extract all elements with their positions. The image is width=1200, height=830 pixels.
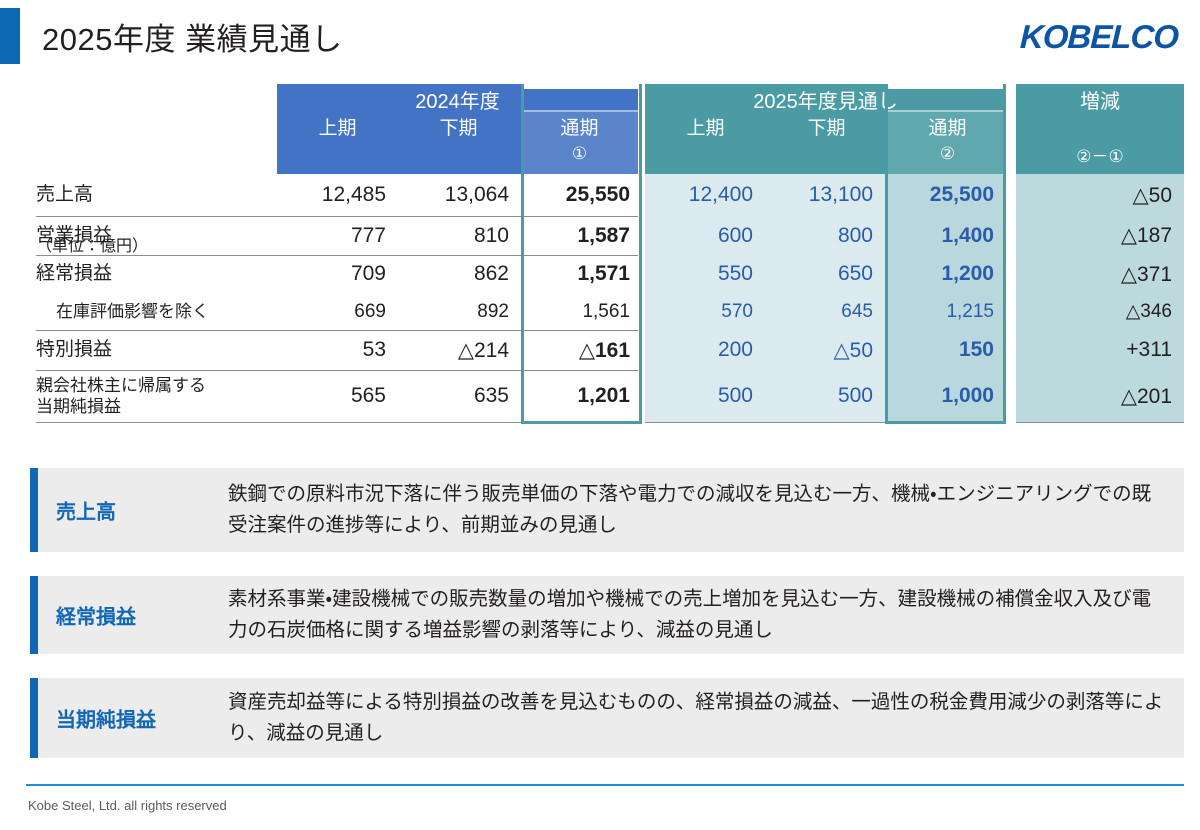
comment-accent-bar — [30, 678, 38, 758]
header-group-fy2025-title: 2025年度見通し — [645, 89, 1006, 115]
row-label: 特別損益 — [36, 330, 112, 370]
comment-box-ordinary-income: 経常損益 素材系事業・建設機械での販売数量の増加や機械での売上増加を見込む一方、… — [30, 576, 1184, 654]
cell-fy2024-h1: 709 — [277, 255, 398, 293]
subheader-fy2025-full: 通期 ② — [887, 116, 1008, 166]
comment-text: 鉄鋼での原料市況下落に伴う販売単価の下落や電力での減収を見込む一方、機械・エンジ… — [228, 479, 1170, 541]
title-accent-bar — [0, 8, 20, 64]
footer-rule — [26, 784, 1184, 786]
header-group-fy2025: 2025年度見通し 上期 下期 通期 ② — [645, 84, 1006, 174]
cell-change: △187 — [1016, 216, 1184, 255]
cell-fy2025-full: 1,400 — [885, 216, 1006, 255]
table-row: 親会社株主に帰属する 当期純損益 565 635 1,201 500 500 1… — [0, 370, 1200, 422]
cell-fy2025-h2: 645 — [765, 293, 885, 330]
gap-strip-fy2025-full — [885, 84, 1006, 89]
cell-change: △371 — [1016, 255, 1184, 293]
header-group-fy2024: 2024年度 上期 下期 通期 ① — [277, 84, 638, 174]
comment-box-sales: 売上高 鉄鋼での原料市況下落に伴う販売単価の下落や電力での減収を見込む一方、機械… — [30, 468, 1184, 552]
cell-fy2024-h1: 669 — [277, 293, 398, 330]
comment-label: 当期純損益 — [56, 704, 156, 733]
row-label: 親会社株主に帰属する 当期純損益 — [36, 370, 206, 422]
subheader-fy2025-h2: 下期 — [766, 116, 887, 166]
cell-fy2024-h2: 862 — [398, 255, 521, 293]
cell-fy2024-full: 25,550 — [521, 174, 642, 216]
subheader-fy2025-full-label: 通期 — [928, 118, 966, 139]
cell-fy2024-full: 1,201 — [521, 370, 642, 422]
cell-fy2025-full: 1,215 — [885, 293, 1006, 330]
subheader-fy2024-full-label: 通期 — [560, 118, 598, 139]
page-title: 2025年度 業績見通し — [42, 14, 343, 59]
table-row: 特別損益 53 △214 △161 200 △50 150 +311 — [0, 330, 1200, 370]
table-row: 売上高 12,485 13,064 25,550 12,400 13,100 2… — [0, 174, 1200, 216]
cell-fy2025-h2: △50 — [765, 330, 885, 370]
cell-fy2025-h1: 600 — [645, 216, 765, 255]
subheader-fy2025-full-marker: ② — [887, 142, 1008, 166]
row-label: 営業損益 — [36, 216, 112, 255]
cell-fy2024-full: 1,561 — [521, 293, 642, 330]
cell-fy2025-h2: 500 — [765, 370, 885, 422]
gap-strip-fy2024-full — [521, 84, 642, 89]
cell-change: △201 — [1016, 370, 1184, 422]
table-body: 売上高 12,485 13,064 25,550 12,400 13,100 2… — [0, 174, 1200, 422]
cell-fy2025-h1: 500 — [645, 370, 765, 422]
results-forecast-table: （単位：億円） 2024年度 上期 下期 通期 ① 2025年度見通し 上期 下… — [0, 84, 1200, 434]
cell-fy2024-h2: 635 — [398, 370, 521, 422]
header-group-change-title: 増減 — [1016, 89, 1184, 115]
subheader-fy2024-full-marker: ① — [519, 142, 640, 166]
cell-fy2024-h1: 53 — [277, 330, 398, 370]
subheader-fy2024-h2: 下期 — [398, 116, 519, 166]
cell-fy2025-h1: 570 — [645, 293, 765, 330]
cell-fy2025-full: 1,200 — [885, 255, 1006, 293]
cell-fy2025-full: 25,500 — [885, 174, 1006, 216]
comment-accent-bar — [30, 468, 38, 552]
header-group-fy2024-subheaders: 上期 下期 通期 ① — [277, 116, 638, 166]
row-label: 経常損益 — [36, 255, 112, 293]
cell-fy2025-h2: 13,100 — [765, 174, 885, 216]
header-group-fy2025-subheaders: 上期 下期 通期 ② — [645, 116, 1006, 166]
comment-label: 経常損益 — [56, 601, 136, 630]
kobelco-logo: KOBELCO — [1019, 18, 1178, 56]
cell-fy2024-full: △161 — [521, 330, 642, 370]
header-group-change: 増減 ②－① — [1016, 84, 1184, 174]
table-row: 経常損益 709 862 1,571 550 650 1,200 △371 — [0, 255, 1200, 293]
cell-fy2024-h2: 13,064 — [398, 174, 521, 216]
cell-change: △346 — [1016, 293, 1184, 330]
header-group-fy2024-title: 2024年度 — [277, 89, 638, 115]
cell-fy2025-full: 150 — [885, 330, 1006, 370]
cell-fy2024-h1: 777 — [277, 216, 398, 255]
cell-change: △50 — [1016, 174, 1184, 216]
comment-label: 売上高 — [56, 496, 116, 525]
cell-fy2025-h1: 200 — [645, 330, 765, 370]
table-row: 営業損益 777 810 1,587 600 800 1,400 △187 — [0, 216, 1200, 255]
cell-fy2024-full: 1,571 — [521, 255, 642, 293]
subheader-change-formula: ②－① — [1016, 142, 1184, 167]
cell-change: +311 — [1016, 330, 1184, 370]
comment-text: 資産売却益等による特別損益の改善を見込むものの、経常損益の減益、一過性の税金費用… — [228, 687, 1170, 749]
cell-fy2024-h2: △214 — [398, 330, 521, 370]
subheader-fy2024-h1: 上期 — [277, 116, 398, 166]
cell-fy2025-h1: 550 — [645, 255, 765, 293]
cell-fy2025-h2: 650 — [765, 255, 885, 293]
comment-text: 素材系事業・建設機械での販売数量の増加や機械での売上増加を見込む一方、建設機械の… — [228, 584, 1170, 646]
subheader-fy2024-full: 通期 ① — [519, 116, 640, 166]
cell-fy2025-full: 1,000 — [885, 370, 1006, 422]
cell-fy2024-h1: 565 — [277, 370, 398, 422]
subheader-fy2025-h1: 上期 — [645, 116, 766, 166]
comment-accent-bar — [30, 576, 38, 654]
footer-copyright: Kobe Steel, Ltd. all rights reserved — [28, 798, 227, 813]
comment-box-net-income: 当期純損益 資産売却益等による特別損益の改善を見込むものの、経常損益の減益、一過… — [30, 678, 1184, 758]
cell-fy2025-h1: 12,400 — [645, 174, 765, 216]
table-row: 在庫評価影響を除く 669 892 1,561 570 645 1,215 △3… — [0, 293, 1200, 330]
cell-fy2024-h2: 892 — [398, 293, 521, 330]
row-label: 在庫評価影響を除く — [56, 293, 209, 330]
cell-fy2024-h1: 12,485 — [277, 174, 398, 216]
cell-fy2024-full: 1,587 — [521, 216, 642, 255]
cell-fy2024-h2: 810 — [398, 216, 521, 255]
cell-fy2025-h2: 800 — [765, 216, 885, 255]
row-label: 売上高 — [36, 174, 93, 216]
